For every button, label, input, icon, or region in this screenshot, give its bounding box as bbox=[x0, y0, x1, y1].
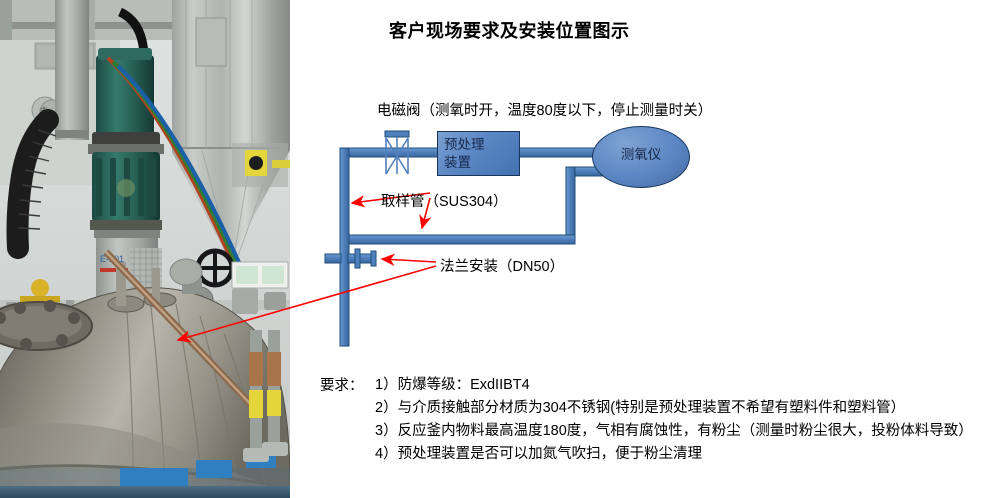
sample-tube-label: 取样管（SUS304） bbox=[381, 190, 508, 211]
requirements-list: 1）防爆等级：ExdIIBT4 2）与介质接触部分材质为304不锈钢(特别是预处… bbox=[375, 374, 973, 466]
requirement-item: 1）防爆等级：ExdIIBT4 bbox=[375, 374, 973, 397]
requirements-label: 要求： bbox=[320, 374, 364, 395]
oxygen-analyzer-label: 测氧仪 bbox=[621, 143, 662, 163]
site-photo: 圭 bbox=[0, 0, 290, 498]
solenoid-valve-note: 电磁阀（测氧时开，温度80度以下，停止测量时关） bbox=[377, 99, 712, 120]
solenoid-valve-icon bbox=[385, 131, 409, 174]
requirement-item: 4）预处理装置是否可以加氮气吹扫，便于粉尘清理 bbox=[375, 443, 973, 466]
requirement-item: 3）反应釜内物料最高温度180度，气相有腐蚀性，有粉尘（测量时粉尘很大，投粉体料… bbox=[375, 420, 973, 443]
flange-mount-label: 法兰安装（DN50） bbox=[440, 255, 564, 276]
pretreatment-unit-box[interactable]: 预处理 装置 bbox=[437, 131, 520, 176]
oxygen-analyzer-ellipse[interactable]: 测氧仪 bbox=[592, 126, 690, 188]
requirement-item: 2）与介质接触部分材质为304不锈钢(特别是预处理装置不希望有塑料件和塑料管） bbox=[375, 397, 973, 420]
slide-root: 圭 bbox=[0, 0, 993, 498]
arrow-to-flange bbox=[382, 259, 436, 262]
pretreatment-line1: 预处理 bbox=[444, 136, 519, 154]
pretreatment-line2: 装置 bbox=[444, 154, 519, 172]
pipe-network bbox=[325, 148, 604, 346]
photo-illustration: 圭 bbox=[0, 0, 290, 498]
page-title: 客户现场要求及安装位置图示 bbox=[389, 17, 630, 43]
